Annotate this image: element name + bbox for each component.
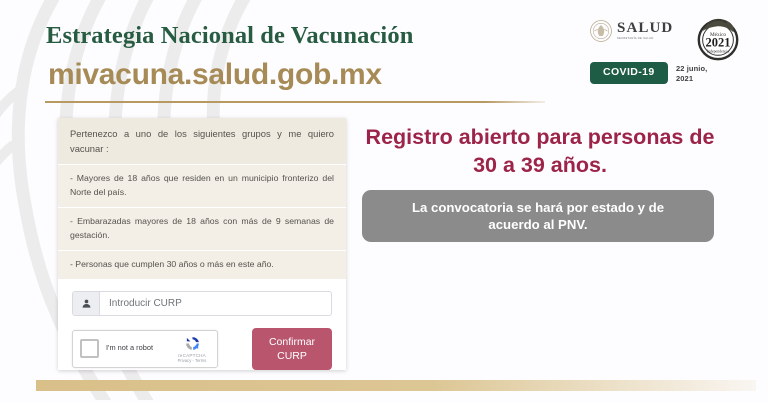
- announcement-heading-line2: 30 a 39 años.: [360, 152, 720, 180]
- list-item: - Personas que cumplen 30 años o más en …: [58, 250, 346, 279]
- recaptcha-label: I'm not a robot: [106, 344, 174, 353]
- recaptcha-links[interactable]: Privacy - Terms: [174, 358, 210, 363]
- list-item: - Mayores de 18 años que residen en un m…: [58, 164, 346, 207]
- salud-logo: SALUD SECRETARÍA DE SALUD: [590, 20, 673, 42]
- mexico-2021-seal-icon: México 2021 Independencia: [694, 14, 742, 62]
- footer-accent-bar: [36, 380, 756, 391]
- recaptcha-widget[interactable]: I'm not a robot reCAPTCHA Privacy - Term…: [72, 330, 218, 368]
- page-title: Estrategia Nacional de Vacunación: [46, 22, 413, 50]
- recaptcha-checkbox[interactable]: [80, 339, 99, 358]
- recaptcha-icon: [184, 335, 201, 352]
- recaptcha-brand: reCAPTCHA Privacy - Terms: [174, 335, 210, 364]
- announcement-note: La convocatoria se hará por estado y de …: [362, 190, 714, 242]
- salud-subtitle: SECRETARÍA DE SALUD: [617, 38, 673, 41]
- curp-input-group[interactable]: [72, 291, 332, 316]
- national-crest-icon: [590, 20, 612, 42]
- captcha-row: I'm not a robot reCAPTCHA Privacy - Term…: [72, 328, 332, 370]
- announcement-heading-line1: Registro abierto para personas de: [360, 124, 720, 152]
- card-prompt: Pertenezco a uno de los siguientes grupo…: [58, 118, 346, 164]
- announcement-heading: Registro abierto para personas de 30 a 3…: [360, 124, 720, 179]
- brand-cluster: SALUD SECRETARÍA DE SALUD México 2021 In…: [584, 12, 744, 100]
- announcement-note-line2: acuerdo al PNV.: [412, 216, 664, 233]
- curp-form: I'm not a robot reCAPTCHA Privacy - Term…: [58, 279, 346, 370]
- covid-badge: COVID-19: [590, 62, 668, 84]
- registration-card: Pertenezco a uno de los siguientes grupo…: [58, 118, 346, 370]
- svg-text:2021: 2021: [706, 36, 731, 50]
- site-url: mivacuna.salud.gob.mx: [48, 58, 382, 92]
- date-line-1: 22 junio,: [676, 64, 707, 74]
- date-line-2: 2021: [676, 74, 707, 84]
- salud-wordmark: SALUD: [617, 21, 673, 36]
- curp-input[interactable]: [100, 292, 331, 315]
- svg-text:Independencia: Independencia: [707, 49, 730, 53]
- confirm-curp-label-line1: Confirmar: [269, 335, 315, 349]
- announcement-note-line1: La convocatoria se hará por estado y de: [412, 199, 664, 216]
- list-item: - Embarazadas mayores de 18 años con más…: [58, 207, 346, 250]
- date-stamp: 22 junio, 2021: [676, 64, 707, 84]
- confirm-curp-label-line2: CURP: [277, 349, 307, 363]
- header-divider: [45, 101, 545, 103]
- confirm-curp-button[interactable]: Confirmar CURP: [252, 328, 332, 370]
- person-icon: [73, 292, 100, 315]
